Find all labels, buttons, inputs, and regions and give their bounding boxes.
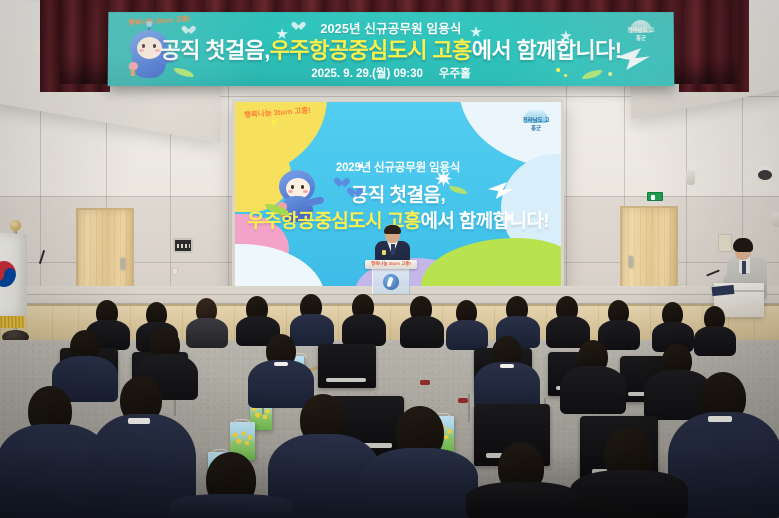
wall-switch[interactable] — [172, 268, 178, 275]
banner-venue: 우주홀 — [439, 68, 471, 80]
banner-headline-part3: 에서 함께합니다! — [472, 38, 622, 63]
audience-shoulders — [560, 366, 626, 414]
audience-shoulders — [466, 482, 580, 518]
chair-leg — [468, 394, 470, 422]
event-banner: 행복나눔 3turn 고흥! 2025년 신규공무원 임용식 공직 첫걸음,우주… — [108, 12, 675, 86]
audience-shoulders — [694, 326, 736, 356]
banner-subline: 2025. 9. 29.(월) 09:30우주홀 — [108, 65, 675, 81]
shirt-collar — [128, 418, 150, 424]
banner-headline-part1: 공직 첫걸음, — [160, 38, 269, 63]
audience-shoulders — [290, 314, 334, 346]
podium: 행복나눔 3turn 고흥! — [365, 260, 417, 294]
banner-headline-part2: 우주항공중심도시 고흥 — [270, 38, 472, 63]
shirt-collar — [708, 416, 732, 422]
audience-shoulders — [446, 320, 488, 350]
shirt-collar — [500, 364, 514, 368]
event-photo: 행복나눔 3turn 고흥! 2025년 신규공무원 임용식 공직 첫걸음,우주… — [0, 0, 779, 518]
exit-sign-icon — [647, 192, 663, 201]
heart-icon — [339, 178, 349, 187]
banner-datetime: 2025. 9. 29.(월) 09:30 — [311, 68, 423, 80]
audience-shoulders — [342, 314, 386, 346]
flower-icon — [435, 170, 452, 187]
security-camera-icon — [757, 166, 773, 180]
wall-speaker-icon — [686, 170, 695, 185]
slide-headline-white: 에서 함께합니다! — [420, 211, 549, 232]
chair — [318, 344, 376, 388]
flower-icon — [503, 212, 514, 223]
slide-logo-text: 전라남도 고흥군 — [521, 116, 551, 132]
heart-icon — [352, 188, 359, 194]
podium-emblem-icon — [383, 274, 399, 290]
podium-plate-text: 행복나눔 3turn 고흥! — [365, 261, 417, 267]
goheung-logo-icon: 전라남도 고흥군 — [626, 20, 656, 42]
wall-control-panel[interactable] — [173, 238, 193, 253]
shirt-collar — [274, 362, 288, 366]
chair-accent — [420, 380, 430, 385]
chair-accent — [458, 398, 468, 403]
audience-shoulders — [474, 362, 540, 410]
audience-shoulders — [570, 470, 688, 518]
korean-flag — [0, 231, 27, 321]
audience-shoulders — [170, 494, 292, 518]
audience-shoulders — [248, 360, 314, 408]
banner-logo-text: 전라남도 고흥군 — [626, 26, 656, 42]
audience-shoulders — [186, 318, 228, 348]
flag-fringe — [0, 316, 25, 328]
flag-pole-finial — [10, 220, 21, 231]
audience-shoulders — [400, 316, 444, 348]
wall-speaker-icon — [772, 212, 779, 227]
audience-shoulders — [362, 448, 478, 518]
goheung-logo-icon: 전라남도 고흥군 — [521, 108, 551, 132]
slide-headline-line1: 공직 첫걸음, — [235, 180, 561, 207]
banner-headline: 공직 첫걸음,우주항공중심도시 고흥에서 함께합니다! — [108, 33, 674, 65]
